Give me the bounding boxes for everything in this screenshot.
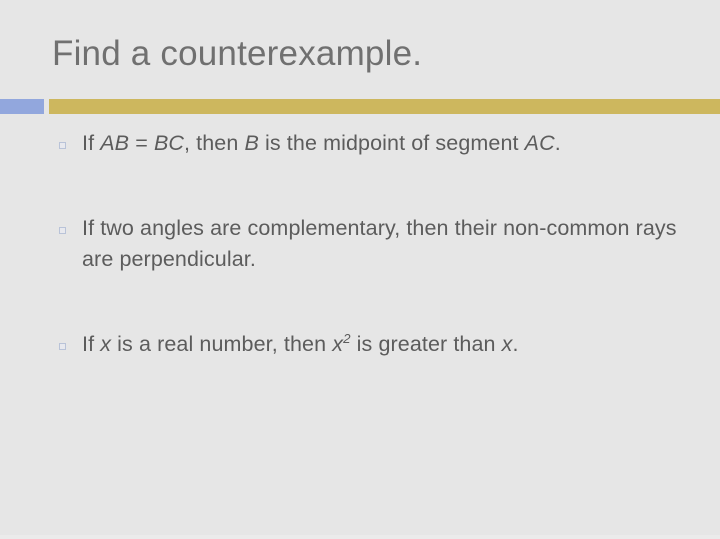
hollow-square-bullet-icon <box>59 227 66 234</box>
divider-gold-bar <box>49 99 720 114</box>
slide-body-bullet-list: If AB = BC, then B is the midpoint of se… <box>0 128 720 360</box>
title-divider <box>0 99 720 114</box>
hollow-square-bullet-icon <box>59 142 66 149</box>
bullet-text: If two angles are complementary, then th… <box>82 213 680 275</box>
bullet-text: If x is a real number, then x2 is greate… <box>82 329 680 360</box>
bullet-item: If AB = BC, then B is the midpoint of se… <box>0 128 720 159</box>
slide-title: Find a counterexample. <box>52 33 422 75</box>
presentation-slide: Find a counterexample. If AB = BC, then … <box>0 0 720 539</box>
bullet-item: If two angles are complementary, then th… <box>0 213 720 275</box>
divider-accent-block <box>0 99 44 114</box>
bullet-item: If x is a real number, then x2 is greate… <box>0 329 720 360</box>
exponent: 2 <box>343 331 351 346</box>
hollow-square-bullet-icon <box>59 343 66 350</box>
bullet-text: If AB = BC, then B is the midpoint of se… <box>82 128 680 159</box>
slide-bottom-edge <box>0 535 720 539</box>
